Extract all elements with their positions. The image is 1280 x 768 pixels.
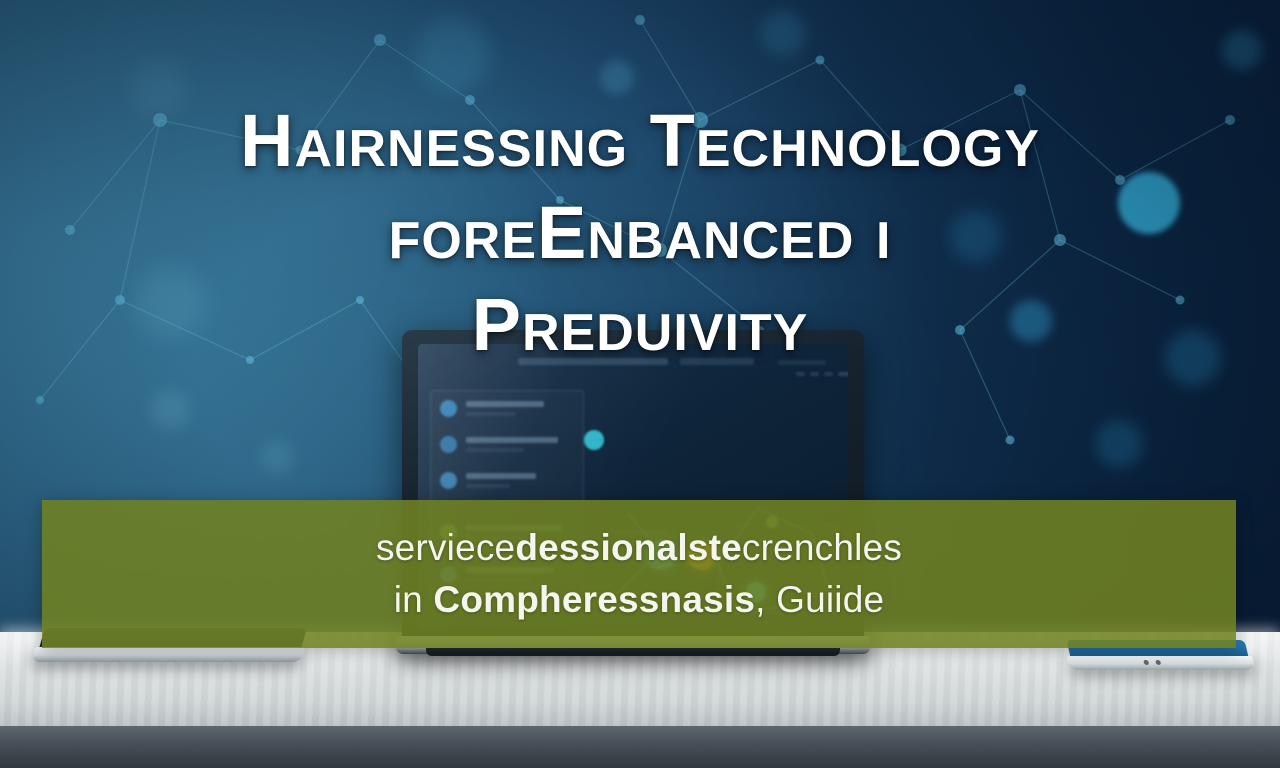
banner-line-1-part-a: serviece: [376, 527, 515, 568]
banner-line-1-part-c: crenchles: [742, 527, 902, 568]
banner-canvas: Hairnessing Technology foreEnbanced ı Pr…: [0, 0, 1280, 768]
smartphone-body: [1066, 656, 1255, 670]
banner-line-2-part-b: Compheressnasis: [433, 579, 755, 620]
banner-line-1-part-b: dessionalste: [515, 527, 742, 568]
headline-line-1: Hairnessing Technology: [0, 104, 1280, 178]
headline-line-3: Preduıvıty: [0, 288, 1280, 362]
desk-front-edge: [0, 726, 1280, 768]
banner-line-1: serviecedessionalstecrenchles: [376, 527, 902, 569]
headline-block: Hairnessing Technology foreEnbanced ı Pr…: [0, 104, 1280, 362]
banner-line-2-part-a: in: [394, 579, 434, 620]
headline-line-2: foreEnbanced ı: [0, 196, 1280, 270]
subtitle-banner: serviecedessionalstecrenchles in Compher…: [42, 500, 1236, 648]
banner-line-2-part-c: , Guiide: [755, 579, 884, 620]
banner-line-2: in Compheressnasis, Guiide: [394, 579, 885, 621]
tablet-body: [31, 647, 305, 662]
laptop-base-shadow: [426, 648, 840, 656]
